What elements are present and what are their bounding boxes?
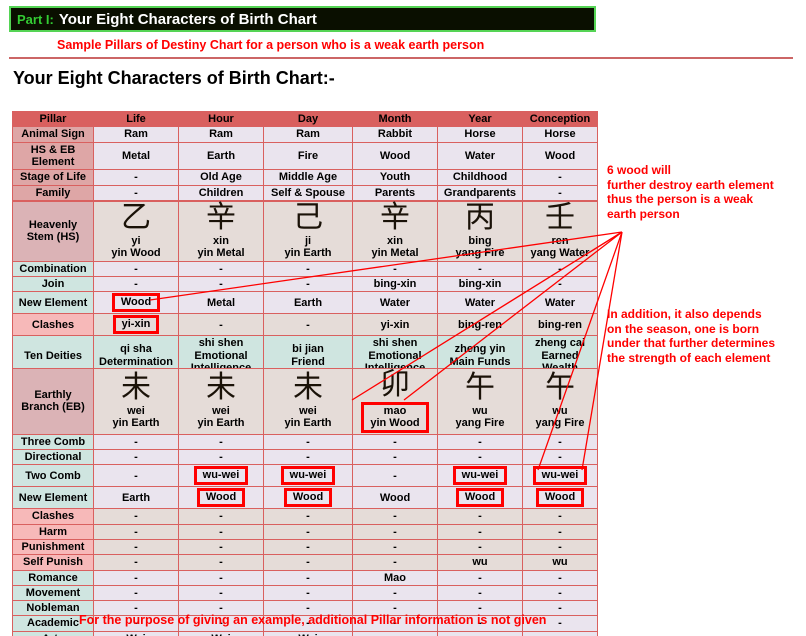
- data-cell: -: [264, 450, 352, 464]
- data-cell: Ram: [264, 127, 352, 141]
- data-cell: Mao: [353, 571, 437, 585]
- data-cell: -: [523, 170, 597, 184]
- pinyin-label: mao: [370, 405, 419, 417]
- table-row: Combination------: [13, 262, 597, 276]
- element-label: yin Wood: [96, 247, 176, 259]
- table-row: Movement------: [13, 586, 597, 600]
- data-cell: -: [264, 277, 352, 291]
- data-cell: Wood: [353, 487, 437, 508]
- column-header: Year: [438, 112, 522, 126]
- data-cell: wu-wei: [523, 465, 597, 486]
- element-label: yang Fire: [440, 417, 520, 429]
- page-banner: Part I: Your Eight Characters of Birth C…: [9, 6, 596, 32]
- horizontal-divider: [9, 57, 793, 59]
- pillar-character-cell: 未weiyin Earth: [264, 369, 352, 434]
- data-cell: Water: [523, 292, 597, 313]
- pillar-character-cell: 乙yiyin Wood: [94, 202, 178, 261]
- data-cell: yi-xin: [353, 314, 437, 335]
- data-cell: -: [353, 525, 437, 539]
- table-row: Directional------: [13, 450, 597, 464]
- pillar-character-cell: 己jiyin Earth: [264, 202, 352, 261]
- pinyin-label: ren: [525, 235, 595, 247]
- data-cell: -: [523, 571, 597, 585]
- table-row: Harm------: [13, 525, 597, 539]
- data-cell: -: [353, 450, 437, 464]
- data-cell: -: [438, 540, 522, 554]
- table-row: Join---bing-xinbing-xin-: [13, 277, 597, 291]
- row-label: Two Comb: [13, 465, 93, 486]
- row-label: Harm: [13, 525, 93, 539]
- element-label: yin Metal: [181, 247, 261, 259]
- row-label: Clashes: [13, 509, 93, 523]
- data-cell: -: [353, 262, 437, 276]
- data-cell: -: [264, 435, 352, 449]
- data-cell: -: [94, 435, 178, 449]
- data-cell: -: [264, 571, 352, 585]
- pillar-character-cell: 壬renyang Water: [523, 202, 597, 261]
- data-cell: -: [94, 555, 178, 569]
- row-label: New Element: [13, 487, 93, 508]
- row-label: Self Punish: [13, 555, 93, 569]
- data-cell: Fire: [264, 143, 352, 170]
- table-row: Clashes------: [13, 509, 597, 523]
- data-cell: Metal: [94, 143, 178, 170]
- data-cell: -: [94, 586, 178, 600]
- data-cell: bing-xin: [353, 277, 437, 291]
- highlight-box: wu-wei: [453, 466, 508, 485]
- earthly-branch-header-row: EarthlyBranch (EB)未weiyin Earth未weiyin E…: [13, 369, 597, 434]
- pinyin-label: bing: [440, 235, 520, 247]
- data-cell: Ram: [179, 127, 263, 141]
- data-cell: -: [523, 435, 597, 449]
- highlight-box: maoyin Wood: [361, 402, 428, 433]
- data-cell: Water: [438, 292, 522, 313]
- data-cell: Wei: [264, 632, 352, 636]
- table-row: Clashesyi-xin--yi-xinbing-renbing-ren: [13, 314, 597, 335]
- data-cell: -: [264, 555, 352, 569]
- data-cell: -: [523, 509, 597, 523]
- data-cell: Wood: [523, 487, 597, 508]
- data-cell: -: [179, 262, 263, 276]
- data-cell: Self & Spouse: [264, 186, 352, 200]
- data-cell: -: [94, 277, 178, 291]
- data-cell: Wood: [353, 143, 437, 170]
- row-label: Punishment: [13, 540, 93, 554]
- element-label: yin Earth: [181, 417, 261, 429]
- table-row: New ElementEarthWoodWoodWoodWoodWood: [13, 487, 597, 508]
- data-cell: Youth: [353, 170, 437, 184]
- row-label: Join: [13, 277, 93, 291]
- pinyin-label: wu: [525, 405, 595, 417]
- highlight-box: yi-xin: [113, 315, 160, 334]
- data-cell: -: [353, 540, 437, 554]
- data-cell: -: [438, 632, 522, 636]
- page-title: Your Eight Characters of Birth Chart:-: [13, 68, 335, 89]
- row-label: Arts: [13, 632, 93, 636]
- pillar-character-cell: 未weiyin Earth: [94, 369, 178, 434]
- pillar-character-cell: 午wuyang Fire: [523, 369, 597, 434]
- data-cell: bing-ren: [523, 314, 597, 335]
- data-cell: -: [94, 571, 178, 585]
- row-label: Family: [13, 186, 93, 200]
- pillar-character-cell: 辛xinyin Metal: [353, 202, 437, 261]
- han-character: 丙: [440, 203, 520, 233]
- table-row: Stage of Life-Old AgeMiddle AgeYouthChil…: [13, 170, 597, 184]
- row-label: Directional: [13, 450, 93, 464]
- pinyin-label: xin: [355, 235, 435, 247]
- highlight-box: wu-wei: [533, 466, 588, 485]
- birth-chart-page: Part I: Your Eight Characters of Birth C…: [0, 0, 806, 636]
- element-label: yin Metal: [355, 247, 435, 259]
- pillar-character-cell: 午wuyang Fire: [438, 369, 522, 434]
- data-cell: Old Age: [179, 170, 263, 184]
- data-cell: -: [179, 509, 263, 523]
- data-cell: -: [523, 586, 597, 600]
- data-cell: Middle Age: [264, 170, 352, 184]
- data-cell: -: [523, 540, 597, 554]
- column-header: Day: [264, 112, 352, 126]
- column-header: Conception: [523, 112, 597, 126]
- pillar-summary-table: PillarLifeHourDayMonthYearConceptionAnim…: [12, 111, 598, 201]
- column-header: Pillar: [13, 112, 93, 126]
- column-header: Hour: [179, 112, 263, 126]
- data-cell: -: [353, 465, 437, 486]
- data-cell: -: [523, 186, 597, 200]
- banner-title: Your Eight Characters of Birth Chart: [59, 11, 317, 28]
- data-cell: -: [438, 509, 522, 523]
- data-cell: -: [179, 555, 263, 569]
- earthly-branch-table: EarthlyBranch (EB)未weiyin Earth未weiyin E…: [12, 368, 598, 636]
- data-cell: -: [438, 262, 522, 276]
- highlight-box: wu-wei: [281, 466, 336, 485]
- page-subtitle: Sample Pillars of Destiny Chart for a pe…: [57, 38, 484, 52]
- data-cell: Wood: [523, 143, 597, 170]
- table-row: Punishment------: [13, 540, 597, 554]
- data-cell: yi-xin: [94, 314, 178, 335]
- data-cell: -: [264, 314, 352, 335]
- data-cell: -: [94, 170, 178, 184]
- data-cell: Rabbit: [353, 127, 437, 141]
- pinyin-label: yi: [96, 235, 176, 247]
- data-cell: Earth: [264, 292, 352, 313]
- table-row: ArtsWeiWeiWei---: [13, 632, 597, 636]
- data-cell: Ram: [94, 127, 178, 141]
- column-header: Life: [94, 112, 178, 126]
- highlight-box: Wood: [112, 293, 160, 312]
- han-character: 辛: [355, 203, 435, 233]
- data-cell: -: [179, 277, 263, 291]
- pinyin-label: xin: [181, 235, 261, 247]
- row-label: Romance: [13, 571, 93, 585]
- han-character: 午: [525, 373, 595, 403]
- data-cell: Earth: [94, 487, 178, 508]
- data-cell: -: [94, 525, 178, 539]
- data-cell: bing-ren: [438, 314, 522, 335]
- part-label: Part I:: [17, 12, 54, 27]
- heavenly-stem-table: HeavenlyStem (HS)乙yiyin Wood辛xinyin Meta…: [12, 201, 598, 376]
- data-cell: -: [94, 186, 178, 200]
- row-label: Stage of Life: [13, 170, 93, 184]
- han-character: 卯: [355, 370, 435, 400]
- data-cell: Metal: [179, 292, 263, 313]
- footnote-text: For the purpose of giving an example, ad…: [79, 613, 546, 627]
- heavenly-stem-header-row: HeavenlyStem (HS)乙yiyin Wood辛xinyin Meta…: [13, 202, 597, 261]
- highlight-box: Wood: [197, 488, 245, 507]
- annotation-note-2: In addition, it also depends on the seas…: [607, 307, 775, 365]
- data-cell: Children: [179, 186, 263, 200]
- data-cell: -: [523, 262, 597, 276]
- table-row: New ElementWoodMetalEarthWaterWaterWater: [13, 292, 597, 313]
- data-cell: bing-xin: [438, 277, 522, 291]
- data-cell: -: [94, 509, 178, 523]
- data-cell: -: [264, 525, 352, 539]
- han-character: 辛: [181, 203, 261, 233]
- data-cell: -: [179, 586, 263, 600]
- data-cell: -: [94, 450, 178, 464]
- pinyin-label: wei: [266, 405, 350, 417]
- han-character: 壬: [525, 203, 595, 233]
- han-character: 未: [266, 373, 350, 403]
- data-cell: Grandparents: [438, 186, 522, 200]
- han-character: 未: [96, 373, 176, 403]
- data-cell: -: [179, 450, 263, 464]
- row-label: Clashes: [13, 314, 93, 335]
- data-cell: -: [353, 555, 437, 569]
- data-cell: -: [353, 586, 437, 600]
- data-cell: -: [353, 632, 437, 636]
- han-character: 未: [181, 373, 261, 403]
- heavenly-stem-header-label: HeavenlyStem (HS): [13, 202, 93, 261]
- table-row: Two Comb-wu-weiwu-wei-wu-weiwu-wei: [13, 465, 597, 486]
- data-cell: Childhood: [438, 170, 522, 184]
- row-label: New Element: [13, 292, 93, 313]
- data-cell: Wood: [438, 487, 522, 508]
- annotation-note-1: 6 wood will further destroy earth elemen…: [607, 163, 774, 221]
- pinyin-label: wu: [440, 405, 520, 417]
- data-cell: wu-wei: [438, 465, 522, 486]
- row-label: Animal Sign: [13, 127, 93, 141]
- element-label: yin Earth: [96, 417, 176, 429]
- table-row: Animal SignRamRamRamRabbitHorseHorse: [13, 127, 597, 141]
- data-cell: wu: [438, 555, 522, 569]
- data-cell: -: [94, 540, 178, 554]
- row-label: Three Comb: [13, 435, 93, 449]
- data-cell: Wood: [264, 487, 352, 508]
- pillar-character-cell: 辛xinyin Metal: [179, 202, 263, 261]
- data-cell: -: [353, 509, 437, 523]
- han-character: 己: [266, 203, 350, 233]
- highlight-box: Wood: [536, 488, 584, 507]
- data-cell: -: [438, 586, 522, 600]
- table-row: Romance---Mao--: [13, 571, 597, 585]
- row-label: Movement: [13, 586, 93, 600]
- data-cell: Parents: [353, 186, 437, 200]
- earthly-branch-header-label: EarthlyBranch (EB): [13, 369, 93, 434]
- data-cell: -: [179, 540, 263, 554]
- data-cell: wu: [523, 555, 597, 569]
- data-cell: -: [179, 571, 263, 585]
- highlight-box: Wood: [284, 488, 332, 507]
- data-cell: -: [523, 277, 597, 291]
- data-cell: -: [438, 435, 522, 449]
- data-cell: Water: [353, 292, 437, 313]
- row-label: Combination: [13, 262, 93, 276]
- data-cell: Wei: [94, 632, 178, 636]
- data-cell: wu-wei: [179, 465, 263, 486]
- element-label: yin Wood: [370, 417, 419, 429]
- table-row: Family-ChildrenSelf & SpouseParentsGrand…: [13, 186, 597, 200]
- data-cell: -: [264, 262, 352, 276]
- data-cell: Horse: [438, 127, 522, 141]
- element-label: yin Earth: [266, 417, 350, 429]
- pinyin-label: wei: [181, 405, 261, 417]
- pinyin-label: ji: [266, 235, 350, 247]
- data-cell: -: [179, 314, 263, 335]
- pillar-character-cell: 未weiyin Earth: [179, 369, 263, 434]
- data-cell: Earth: [179, 143, 263, 170]
- element-label: yin Earth: [266, 247, 350, 259]
- table-row: Three Comb------: [13, 435, 597, 449]
- element-label: yang Fire: [440, 247, 520, 259]
- data-cell: -: [94, 262, 178, 276]
- row-label: HS & EBElement: [13, 143, 93, 170]
- column-header: Month: [353, 112, 437, 126]
- data-cell: -: [264, 509, 352, 523]
- data-cell: Wood: [179, 487, 263, 508]
- data-cell: -: [438, 571, 522, 585]
- table-header-row: PillarLifeHourDayMonthYearConception: [13, 112, 597, 126]
- data-cell: -: [438, 525, 522, 539]
- han-character: 乙: [96, 203, 176, 233]
- data-cell: -: [523, 632, 597, 636]
- han-character: 午: [440, 373, 520, 403]
- data-cell: -: [438, 450, 522, 464]
- element-label: yang Water: [525, 247, 595, 259]
- data-cell: -: [179, 435, 263, 449]
- data-cell: -: [523, 450, 597, 464]
- data-cell: Wei: [179, 632, 263, 636]
- data-cell: -: [523, 525, 597, 539]
- data-cell: -: [179, 525, 263, 539]
- highlight-box: Wood: [456, 488, 504, 507]
- data-cell: -: [264, 540, 352, 554]
- data-cell: Horse: [523, 127, 597, 141]
- table-row: Self Punish----wuwu: [13, 555, 597, 569]
- data-cell: wu-wei: [264, 465, 352, 486]
- data-cell: Wood: [94, 292, 178, 313]
- table-row: HS & EBElementMetalEarthFireWoodWaterWoo…: [13, 143, 597, 170]
- data-cell: -: [353, 435, 437, 449]
- data-cell: Water: [438, 143, 522, 170]
- pinyin-label: wei: [96, 405, 176, 417]
- element-label: yang Fire: [525, 417, 595, 429]
- pillar-character-cell: 卯maoyin Wood: [353, 369, 437, 434]
- highlight-box: wu-wei: [194, 466, 249, 485]
- pillar-character-cell: 丙bingyang Fire: [438, 202, 522, 261]
- data-cell: -: [94, 465, 178, 486]
- data-cell: -: [264, 586, 352, 600]
